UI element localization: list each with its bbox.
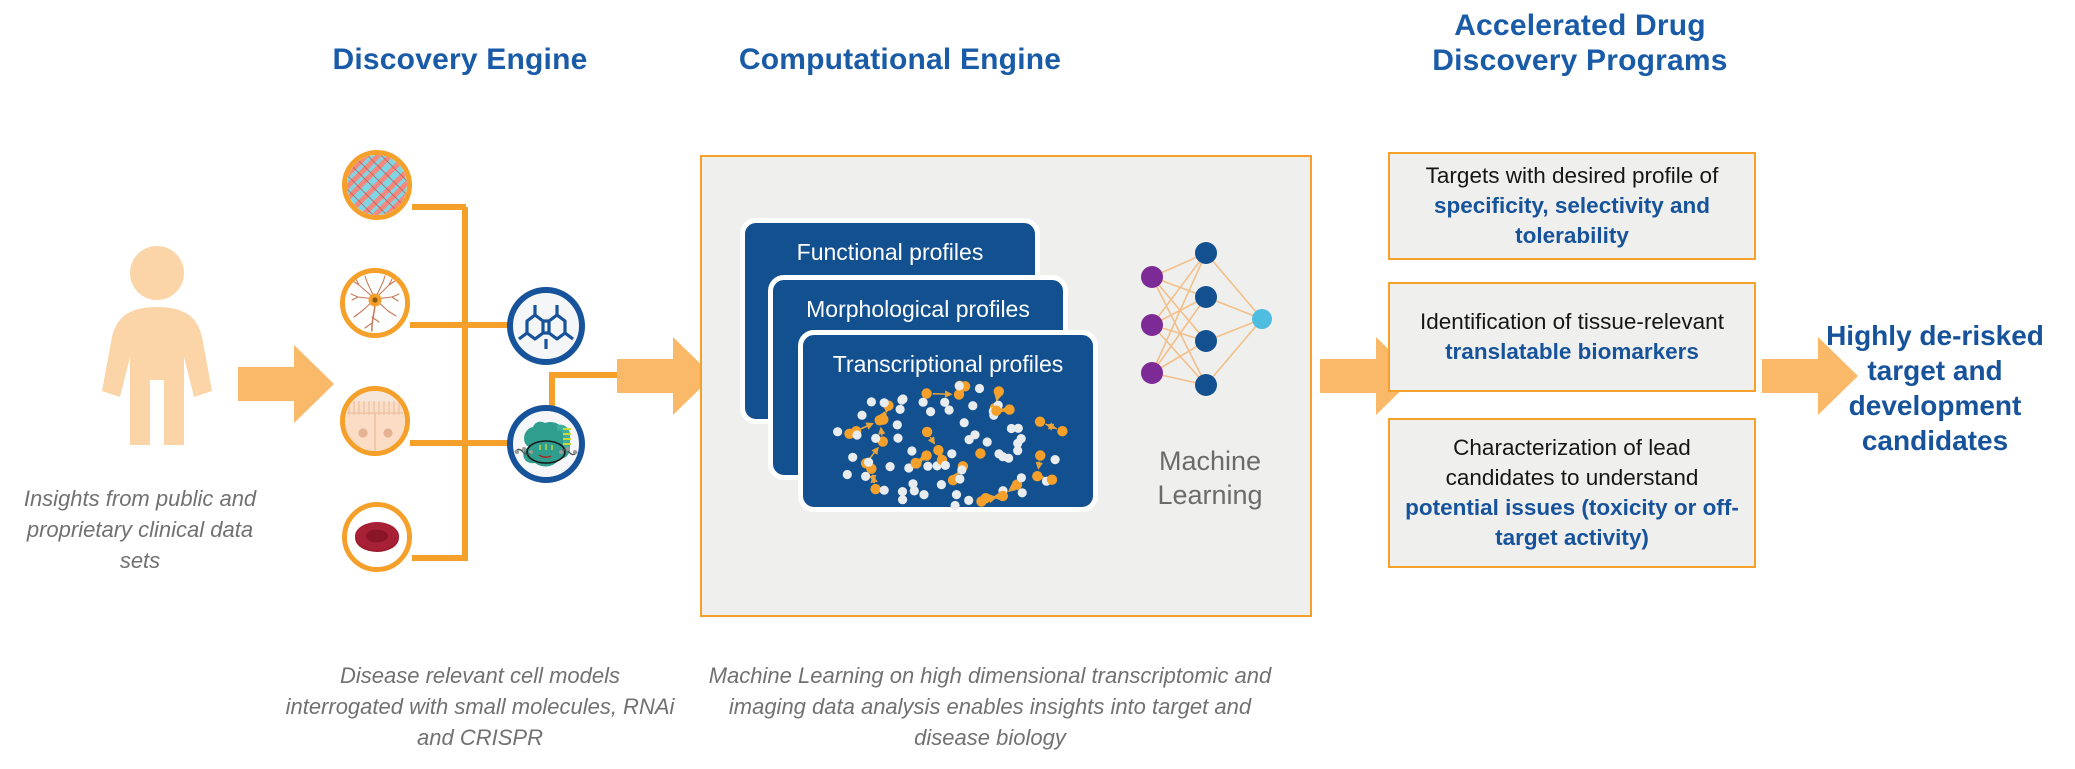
header-computational-engine: Computational Engine xyxy=(680,42,1120,77)
output-box-targets-text: Targets with desired profile of specific… xyxy=(1402,161,1742,251)
arrow-discovery-to-computational xyxy=(617,337,713,415)
caption-disease-relevant-cell-models: Disease relevant cell models interrogate… xyxy=(280,660,680,754)
connector-cell2 xyxy=(410,322,466,328)
profile-card-functional-label: Functional profiles xyxy=(745,239,1035,266)
output-box-targets[interactable]: Targets with desired profile of specific… xyxy=(1388,152,1756,260)
transcriptional-scatter-plot xyxy=(803,377,1093,515)
cell-circle-muscle-tissue[interactable] xyxy=(342,150,412,220)
cell-circle-red-blood[interactable] xyxy=(342,502,412,572)
cell-circle-neuron[interactable] xyxy=(340,268,410,338)
output-box-characterization-text: Characterization of lead candidates to u… xyxy=(1402,433,1742,553)
crispr-rnai-icon[interactable] xyxy=(507,405,585,483)
epithelial-cell-icon xyxy=(345,391,405,451)
profile-card-morphological-label: Morphological profiles xyxy=(773,296,1063,323)
connector-vertical-bus xyxy=(462,207,468,561)
red-blood-cell-icon xyxy=(347,507,407,567)
muscle-tissue-cell-icon xyxy=(347,155,407,215)
ml-label-line1: Machine xyxy=(1110,445,1310,479)
neural-network-icon xyxy=(1134,235,1284,415)
diagram-canvas: Discovery Engine Computational Engine Ac… xyxy=(0,0,2075,769)
output-box-biomarkers[interactable]: Identification of tissue-relevant transl… xyxy=(1388,282,1756,392)
profile-card-transcriptional[interactable]: Transcriptional profiles xyxy=(798,330,1098,512)
output-box-biomarkers-text: Identification of tissue-relevant transl… xyxy=(1402,307,1742,367)
ml-label-line2: Learning xyxy=(1110,479,1310,513)
neuron-cell-icon xyxy=(345,273,405,333)
arrow-human-to-discovery xyxy=(238,345,334,423)
caption-machine-learning: Machine Learning on high dimensional tra… xyxy=(700,660,1280,754)
connector-cell3 xyxy=(410,440,466,446)
connector-cell4 xyxy=(412,555,466,561)
connector-cell1 xyxy=(412,204,466,210)
output-box-characterization[interactable]: Characterization of lead candidates to u… xyxy=(1388,418,1756,568)
caption-insights: Insights from public and proprietary cli… xyxy=(10,483,270,577)
profile-card-transcriptional-label: Transcriptional profiles xyxy=(803,351,1093,378)
human-figure-icon xyxy=(92,245,222,445)
header-discovery-engine: Discovery Engine xyxy=(260,42,660,77)
header-accelerated-drug-discovery-programs: Accelerated Drug Discovery Programs xyxy=(1380,8,1780,79)
cell-circle-epithelial[interactable] xyxy=(340,386,410,456)
final-outcome-text: Highly de-risked target and development … xyxy=(1800,318,2070,458)
small-molecule-icon[interactable] xyxy=(507,287,585,365)
machine-learning-label: Machine Learning xyxy=(1110,445,1310,513)
